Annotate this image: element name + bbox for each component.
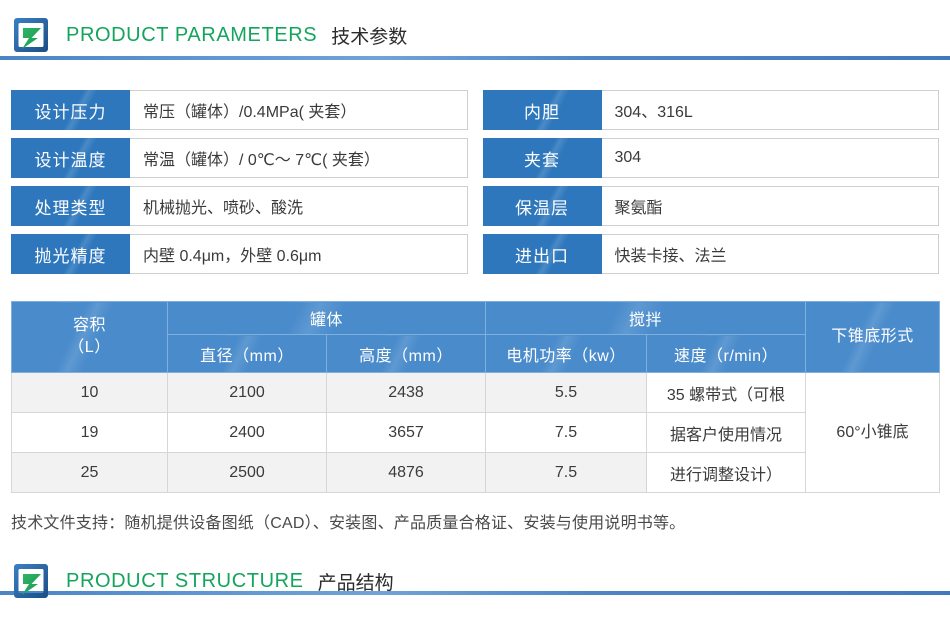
section-title-cn: 产品结构 bbox=[318, 568, 394, 595]
spec-row: 处理类型 机械抛光、喷砂、酸洗 bbox=[11, 186, 468, 226]
section-title-en: PRODUCT STRUCTURE bbox=[66, 570, 304, 593]
spec-label: 抛光精度 bbox=[11, 234, 130, 274]
spec-value: 304、316L bbox=[602, 90, 940, 130]
cell-diameter: 2500 bbox=[168, 453, 327, 493]
spec-table-body: 10 2100 2438 5.5 35 螺带式（可根 60°小锥底 19 240… bbox=[12, 373, 940, 493]
spec-label: 设计压力 bbox=[11, 90, 130, 130]
table-row: 25 2500 4876 7.5 进行调整设计） bbox=[12, 453, 940, 493]
spec-label: 保温层 bbox=[483, 186, 602, 226]
section-title-cn: 技术参数 bbox=[331, 22, 407, 49]
section-header-parameters: PRODUCT PARAMETERS 技术参数 bbox=[0, 0, 950, 56]
spec-row: 设计温度 常温（罐体）/ 0℃～ 7℃( 夹套） bbox=[11, 138, 468, 178]
spec-table-head: 容积 （L） 罐体 搅拌 下锥底形式 直径（mm） 高度（mm） 电机功率（kw… bbox=[12, 302, 940, 373]
cell-volume: 19 bbox=[12, 413, 168, 453]
cell-volume: 10 bbox=[12, 373, 168, 413]
spec-row: 进出口 快装卡接、法兰 bbox=[483, 234, 940, 274]
spec-column-right: 内胆 304、316L 夹套 304 保温层 聚氨酯 进出口 快装卡接、法兰 bbox=[483, 90, 940, 282]
cell-motor-power: 7.5 bbox=[486, 453, 647, 493]
logo-mark-icon bbox=[12, 562, 50, 600]
spec-table-container: 容积 （L） 罐体 搅拌 下锥底形式 直径（mm） 高度（mm） 电机功率（kw… bbox=[0, 282, 950, 493]
col-group-header-tank: 罐体 bbox=[168, 302, 486, 335]
cell-speed-line-3: 进行调整设计） bbox=[647, 453, 806, 493]
cell-motor-power: 5.5 bbox=[486, 373, 647, 413]
cell-cone-type: 60°小锥底 bbox=[806, 373, 940, 493]
table-row: 10 2100 2438 5.5 35 螺带式（可根 60°小锥底 bbox=[12, 373, 940, 413]
technical-documents-note: 技术文件支持：随机提供设备图纸（CAD）、安装图、产品质量合格证、安装与使用说明… bbox=[0, 493, 950, 533]
spec-value: 常压（罐体）/0.4MPa( 夹套） bbox=[130, 90, 468, 130]
spec-value: 内壁 0.4μm，外壁 0.6μm bbox=[130, 234, 468, 274]
spec-row: 设计压力 常压（罐体）/0.4MPa( 夹套） bbox=[11, 90, 468, 130]
spec-value: 304 bbox=[602, 138, 940, 178]
spec-row: 内胆 304、316L bbox=[483, 90, 940, 130]
col-header-volume: 容积 （L） bbox=[12, 302, 168, 373]
cell-height: 2438 bbox=[327, 373, 486, 413]
col-header-cone-type: 下锥底形式 bbox=[806, 302, 940, 373]
cell-diameter: 2400 bbox=[168, 413, 327, 453]
section-title-en: PRODUCT PARAMETERS bbox=[66, 24, 317, 47]
cell-volume: 25 bbox=[12, 453, 168, 493]
spec-label: 进出口 bbox=[483, 234, 602, 274]
spec-label: 内胆 bbox=[483, 90, 602, 130]
col-header-volume-line1: 容积 bbox=[14, 315, 165, 337]
col-group-header-stir: 搅拌 bbox=[486, 302, 806, 335]
table-row: 19 2400 3657 7.5 据客户使用情况 bbox=[12, 413, 940, 453]
col-header-speed: 速度（r/min） bbox=[647, 335, 806, 373]
spec-value: 快装卡接、法兰 bbox=[602, 234, 940, 274]
spec-column-left: 设计压力 常压（罐体）/0.4MPa( 夹套） 设计温度 常温（罐体）/ 0℃～… bbox=[11, 90, 468, 282]
cell-motor-power: 7.5 bbox=[486, 413, 647, 453]
col-header-volume-line2: （L） bbox=[14, 337, 165, 359]
spec-row: 夹套 304 bbox=[483, 138, 940, 178]
cell-speed-line-2: 据客户使用情况 bbox=[647, 413, 806, 453]
spec-value: 机械抛光、喷砂、酸洗 bbox=[130, 186, 468, 226]
spec-label: 设计温度 bbox=[11, 138, 130, 178]
col-header-height: 高度（mm） bbox=[327, 335, 486, 373]
cell-height: 4876 bbox=[327, 453, 486, 493]
cell-speed-line-1: 35 螺带式（可根 bbox=[647, 373, 806, 413]
col-header-motor-power: 电机功率（kw） bbox=[486, 335, 647, 373]
cell-height: 3657 bbox=[327, 413, 486, 453]
spec-row: 抛光精度 内壁 0.4μm，外壁 0.6μm bbox=[11, 234, 468, 274]
section-header-structure: PRODUCT STRUCTURE 产品结构 bbox=[0, 533, 950, 591]
col-header-diameter: 直径（mm） bbox=[168, 335, 327, 373]
logo-mark-icon bbox=[12, 16, 50, 54]
spec-label: 夹套 bbox=[483, 138, 602, 178]
spec-label: 处理类型 bbox=[11, 186, 130, 226]
cell-diameter: 2100 bbox=[168, 373, 327, 413]
spec-table: 容积 （L） 罐体 搅拌 下锥底形式 直径（mm） 高度（mm） 电机功率（kw… bbox=[11, 301, 940, 493]
spec-rows-container: 设计压力 常压（罐体）/0.4MPa( 夹套） 设计温度 常温（罐体）/ 0℃～… bbox=[0, 60, 950, 282]
spec-value: 常温（罐体）/ 0℃～ 7℃( 夹套） bbox=[130, 138, 468, 178]
spec-row: 保温层 聚氨酯 bbox=[483, 186, 940, 226]
spec-value: 聚氨酯 bbox=[602, 186, 940, 226]
